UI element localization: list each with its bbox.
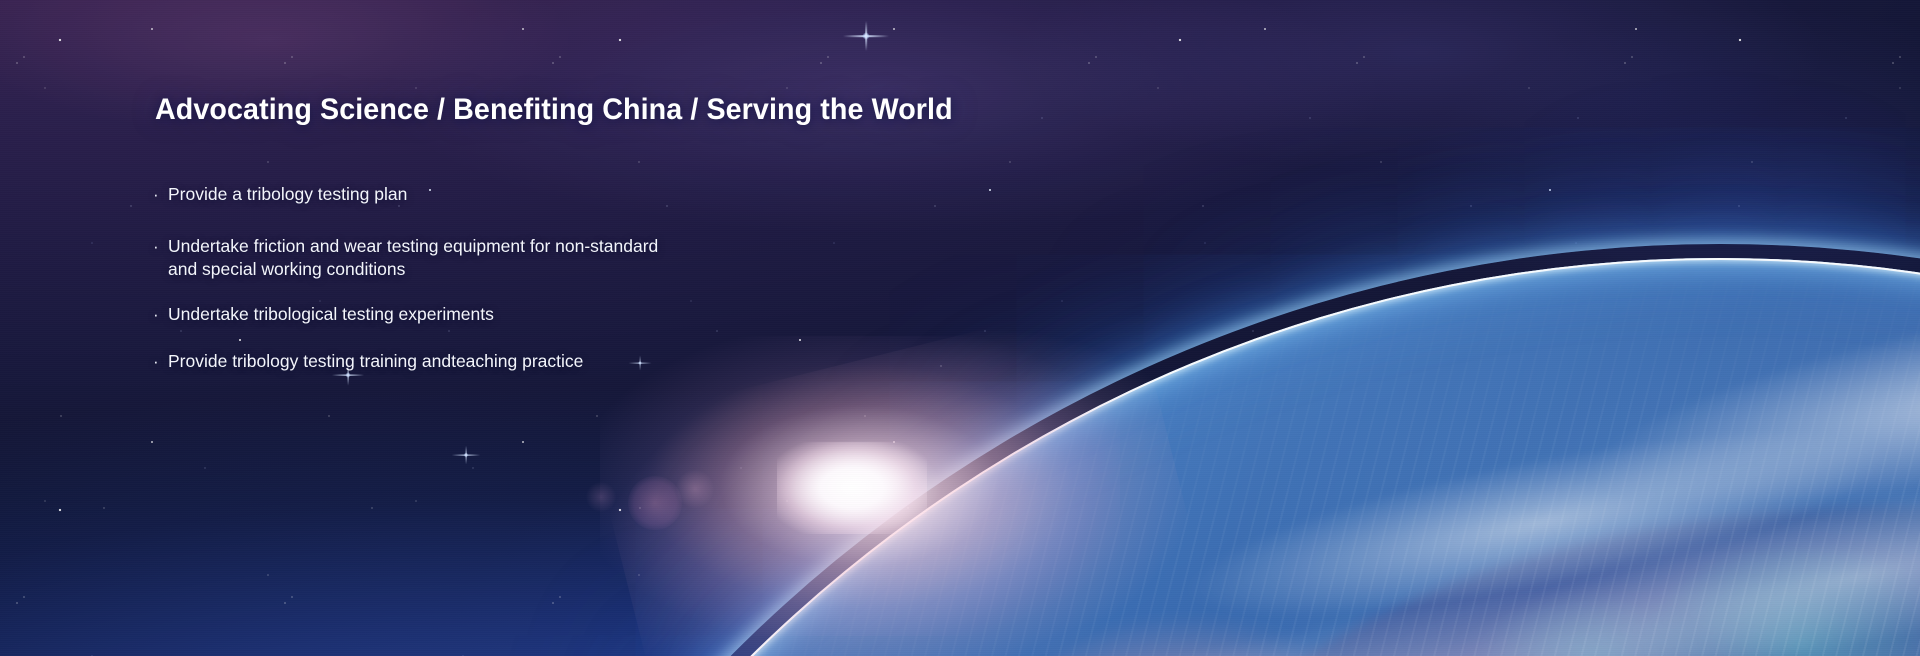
earth-scene	[0, 0, 1920, 656]
cloud-streaks	[340, 258, 1920, 656]
hero-banner: Advocating Science / Benefiting China / …	[0, 0, 1920, 656]
earth-globe	[340, 258, 1920, 656]
